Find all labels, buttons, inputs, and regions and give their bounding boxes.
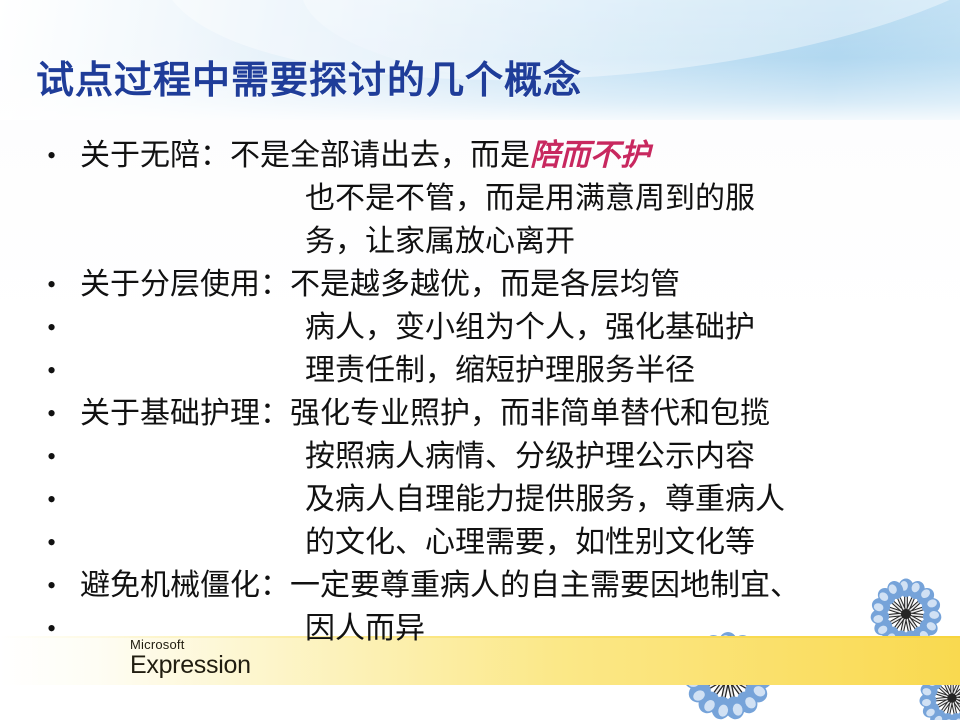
slide-canvas: Microsoft Expression 试点过程中需要探讨的几个概念 •关于无…	[0, 0, 960, 720]
list-item-text: 避免机械僵化：一定要尊重病人的自主需要因地制宜、	[80, 564, 800, 607]
list-item-text-plain: 按照病人病情、分级护理公示内容	[305, 440, 755, 473]
list-item-text: 按照病人病情、分级护理公示内容	[305, 435, 755, 478]
list-item: •务，让家属放心离开	[0, 220, 960, 263]
list-item-text-plain: 也不是不管，而是用满意周到的服	[305, 182, 755, 215]
list-item: •关于分层使用：不是越多越优，而是各层均管	[0, 263, 960, 306]
bullet-marker-icon: •	[47, 134, 61, 177]
emphasized-phrase: 陪而不护	[530, 139, 650, 172]
list-item-text: 病人，变小组为个人，强化基础护	[305, 306, 755, 349]
bullet-marker-icon: •	[47, 435, 61, 478]
list-item: •避免机械僵化：一定要尊重病人的自主需要因地制宜、	[0, 564, 960, 607]
content-bullet-list: •关于无陪：不是全部请出去，而是陪而不护•也不是不管，而是用满意周到的服•务，让…	[0, 134, 960, 650]
list-item: •关于无陪：不是全部请出去，而是陪而不护	[0, 134, 960, 177]
list-item-text-plain: 关于基础护理：强化专业照护，而非简单替代和包揽	[80, 397, 770, 430]
list-item-text: 关于无陪：不是全部请出去，而是陪而不护	[80, 134, 650, 177]
list-item: •的文化、心理需要，如性别文化等	[0, 521, 960, 564]
bullet-marker-icon: •	[47, 306, 61, 349]
expression-product-label: Expression	[130, 652, 300, 679]
page-title: 试点过程中需要探讨的几个概念	[36, 58, 582, 104]
bullet-marker-icon: •	[47, 607, 61, 650]
list-item-text: 关于分层使用：不是越多越优，而是各层均管	[80, 263, 680, 306]
list-item-text: 也不是不管，而是用满意周到的服	[305, 177, 755, 220]
list-item-text: 的文化、心理需要，如性别文化等	[305, 521, 755, 564]
list-item: •按照病人病情、分级护理公示内容	[0, 435, 960, 478]
bullet-marker-icon: •	[47, 392, 61, 435]
list-item: •及病人自理能力提供服务，尊重病人	[0, 478, 960, 521]
bullet-marker-icon: •	[47, 564, 61, 607]
list-item-text: 务，让家属放心离开	[305, 220, 575, 263]
bullet-marker-icon: •	[47, 521, 61, 564]
list-item-text-plain: 关于无陪：不是全部请出去，而是	[80, 139, 530, 172]
list-item-text-plain: 理责任制，缩短护理服务半径	[305, 354, 695, 387]
list-item-text-plain: 的文化、心理需要，如性别文化等	[305, 526, 755, 559]
list-item-text: 关于基础护理：强化专业照护，而非简单替代和包揽	[80, 392, 770, 435]
list-item-text-plain: 及病人自理能力提供服务，尊重病人	[305, 483, 785, 516]
list-item-text: 理责任制，缩短护理服务半径	[305, 349, 695, 392]
list-item: •因人而异	[0, 607, 960, 650]
bullet-marker-icon: •	[47, 263, 61, 306]
list-item-text-plain: 务，让家属放心离开	[305, 225, 575, 258]
list-item-text-plain: 病人，变小组为个人，强化基础护	[305, 311, 755, 344]
list-item-text-plain: 关于分层使用：不是越多越优，而是各层均管	[80, 268, 680, 301]
list-item-text-plain: 因人而异	[305, 612, 425, 645]
list-item: •理责任制，缩短护理服务半径	[0, 349, 960, 392]
bullet-marker-icon: •	[47, 349, 61, 392]
list-item: •关于基础护理：强化专业照护，而非简单替代和包揽	[0, 392, 960, 435]
list-item: •也不是不管，而是用满意周到的服	[0, 177, 960, 220]
bullet-marker-icon: •	[47, 478, 61, 521]
list-item-text-plain: 避免机械僵化：一定要尊重病人的自主需要因地制宜、	[80, 569, 800, 602]
list-item-text: 及病人自理能力提供服务，尊重病人	[305, 478, 785, 521]
list-item-text: 因人而异	[305, 607, 425, 650]
list-item: •病人，变小组为个人，强化基础护	[0, 306, 960, 349]
